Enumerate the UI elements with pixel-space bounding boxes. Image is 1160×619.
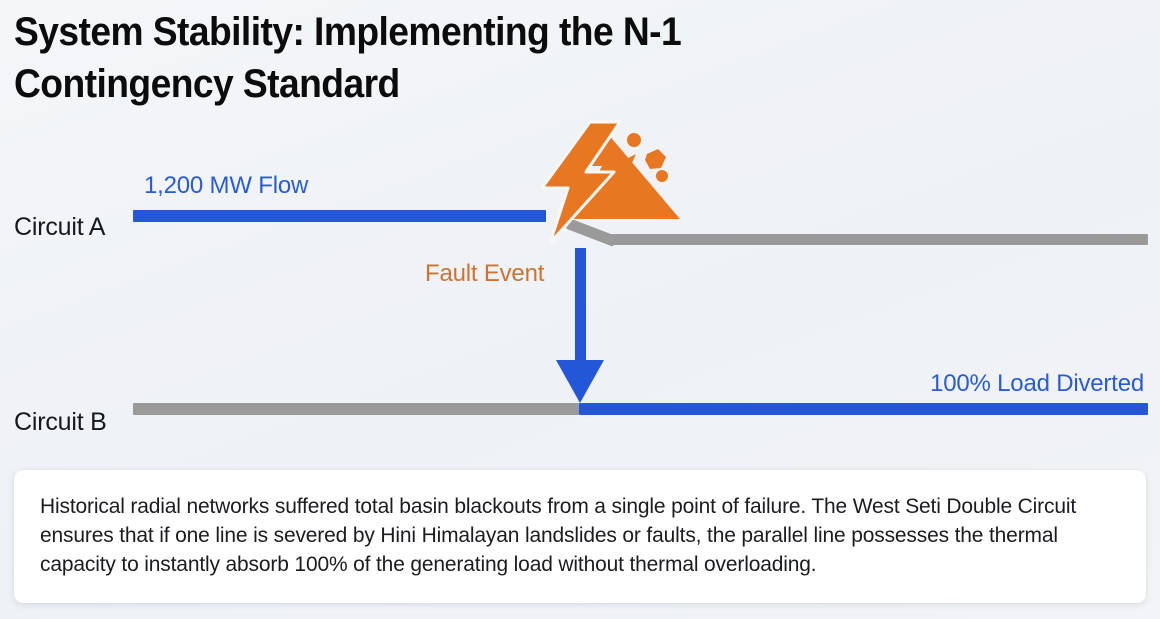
caption-card: Historical radial networks suffered tota… [14,470,1146,603]
fault-event-label: Fault Event [425,260,544,288]
circuit-b-standby-line [133,403,579,415]
circuit-a-label: Circuit A [14,213,105,242]
circuit-a-flow-annotation: 1,200 MW Flow [144,172,308,200]
circuit-diagram: Circuit A 1,200 MW Flow Fault Event Circ… [0,120,1160,445]
circuit-b-label: Circuit B [14,408,107,437]
caption-text: Historical radial networks suffered tota… [40,492,1103,579]
slide-root: System Stability: Implementing the N-1 C… [0,0,1160,619]
circuit-b-energized-line [579,403,1148,415]
lightning-landslide-icon [528,120,693,245]
circuit-b-load-annotation: 100% Load Diverted [930,370,1144,398]
page-title: System Stability: Implementing the N-1 C… [14,6,851,110]
circuit-a-energized-line [133,210,546,222]
down-arrow-icon [550,248,610,406]
